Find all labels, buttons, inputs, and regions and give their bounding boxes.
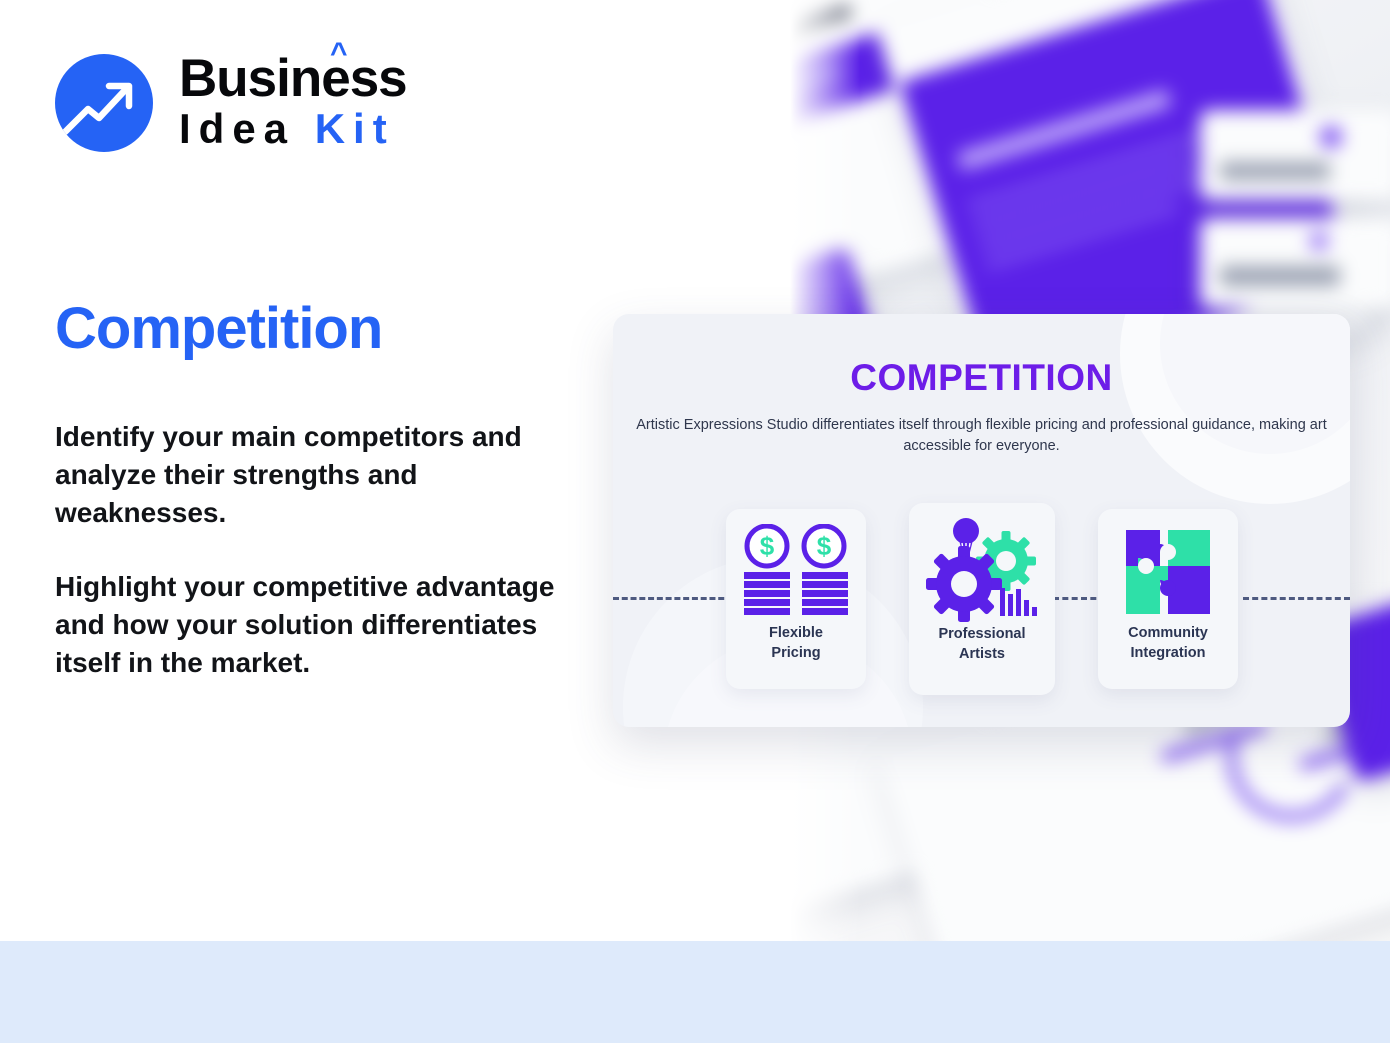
svg-text:$: $ (817, 531, 832, 561)
logo-word-idea: Idea (179, 105, 295, 152)
tile-flexible-pricing[interactable]: $ $ (726, 509, 866, 689)
tile-label-line-1: Professional (938, 626, 1025, 642)
svg-text:$: $ (760, 531, 775, 561)
footer-band (0, 941, 1390, 1043)
slide-page: Business ^ Idea Kit Competition Identify… (0, 0, 1390, 1043)
mockup-card-right-2 (1200, 218, 1390, 308)
logo-word-kit: Kit (315, 105, 395, 152)
tile-professional-artists[interactable]: Professional Artists (909, 503, 1055, 695)
page-title: Competition (55, 295, 382, 362)
description-paragraph-2: Highlight your competitive advantage and… (55, 568, 595, 682)
competition-slide-card: COMPETITION Artistic Expressions Studio … (613, 314, 1350, 727)
connector-dash-left (613, 597, 733, 600)
tile-label-line-1: Community (1128, 625, 1208, 641)
description-text: Identify your main competitors and analy… (55, 418, 595, 682)
growth-arrow-icon (55, 54, 153, 152)
tile-label-flexible-pricing: Flexible Pricing (769, 624, 823, 663)
gears-lightbulb-chart-icon (924, 513, 1040, 625)
tiles-container: $ $ (613, 314, 1350, 727)
logo-line-2: Idea Kit (179, 107, 407, 152)
tile-label-line-2: Integration (1131, 645, 1206, 661)
tile-label-line-1: Flexible (769, 625, 823, 641)
tile-label-professional-artists: Professional Artists (938, 625, 1025, 664)
coin-stacks-icon: $ $ (740, 519, 852, 624)
logo-word-business: Business (179, 49, 407, 108)
logo-caret-icon: ^ (330, 40, 347, 69)
logo-line-1: Business ^ (179, 54, 407, 105)
mockup-card-right-1 (1200, 110, 1390, 200)
connector-dash-right (1243, 597, 1350, 600)
description-paragraph-1: Identify your main competitors and analy… (55, 418, 595, 532)
tile-label-community-integration: Community Integration (1128, 624, 1208, 663)
tile-label-line-2: Pricing (771, 645, 820, 661)
brand-logo[interactable]: Business ^ Idea Kit (55, 54, 407, 152)
tile-community-integration[interactable]: Community Integration (1098, 509, 1238, 689)
puzzle-pieces-icon (1120, 519, 1216, 624)
tile-label-line-2: Artists (959, 646, 1005, 662)
